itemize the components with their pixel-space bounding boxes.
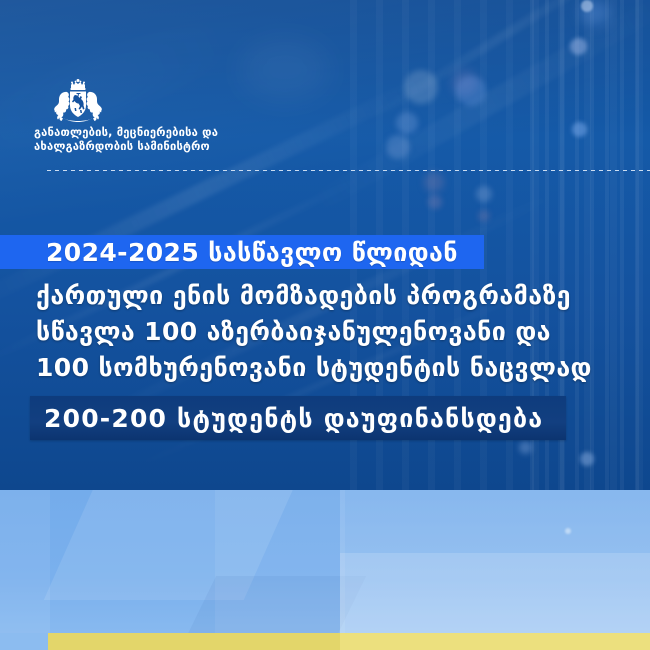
ministry-name-line-1: განათლების, მეცნიერებისა და [34,126,334,140]
headline-text: 2024-2025 სასწავლო წლიდან [46,236,458,268]
ministry-name: განათლების, მეცნიერებისა და ახალგაზრდობი… [34,126,334,153]
background-bokeh-dot [424,172,444,192]
background-bokeh-dot [570,38,587,55]
yellow-bar-left-gap [0,633,48,650]
body-text-line-3: 100 სომხურენოვანი სტუდენტის ნაცვლად [36,353,592,382]
yellow-accent-bar-right [340,633,650,650]
body-text-line-2: სწავლა 100 აზერბაიჯანულენოვანი და [36,317,551,346]
background-bokeh-dot [456,76,486,106]
background-bokeh-dot [519,441,532,454]
background-bokeh-dot [581,0,593,12]
background-bokeh-dot [396,112,418,134]
poster-canvas: განათლების, მეცნიერებისა და ახალგაზრდობი… [0,0,650,650]
dashed-divider [47,170,650,171]
background-bokeh-dot [240,40,330,100]
background-bokeh-dot [386,135,410,159]
body-text-line-1: ქართული ენის მომზადების პროგრამაზე [36,281,571,310]
background-bokeh-dot [428,195,442,209]
bottom-bokeh-dot [565,528,571,534]
coat-of-arms-icon [47,78,109,123]
background-bottom [0,490,650,650]
final-emphasis-text: 200-200 სტუდენტს დაუფინანსდება [44,396,543,440]
background-bokeh-dot [572,122,587,137]
background-bokeh-dot [580,452,594,466]
bottom-shape [0,490,50,650]
background-bokeh-dot [476,186,492,202]
ministry-name-line-2: ახალგაზრდობის სამინისტრო [34,140,334,154]
background-bokeh-dot [404,70,438,104]
background-bokeh-dot [478,210,490,222]
